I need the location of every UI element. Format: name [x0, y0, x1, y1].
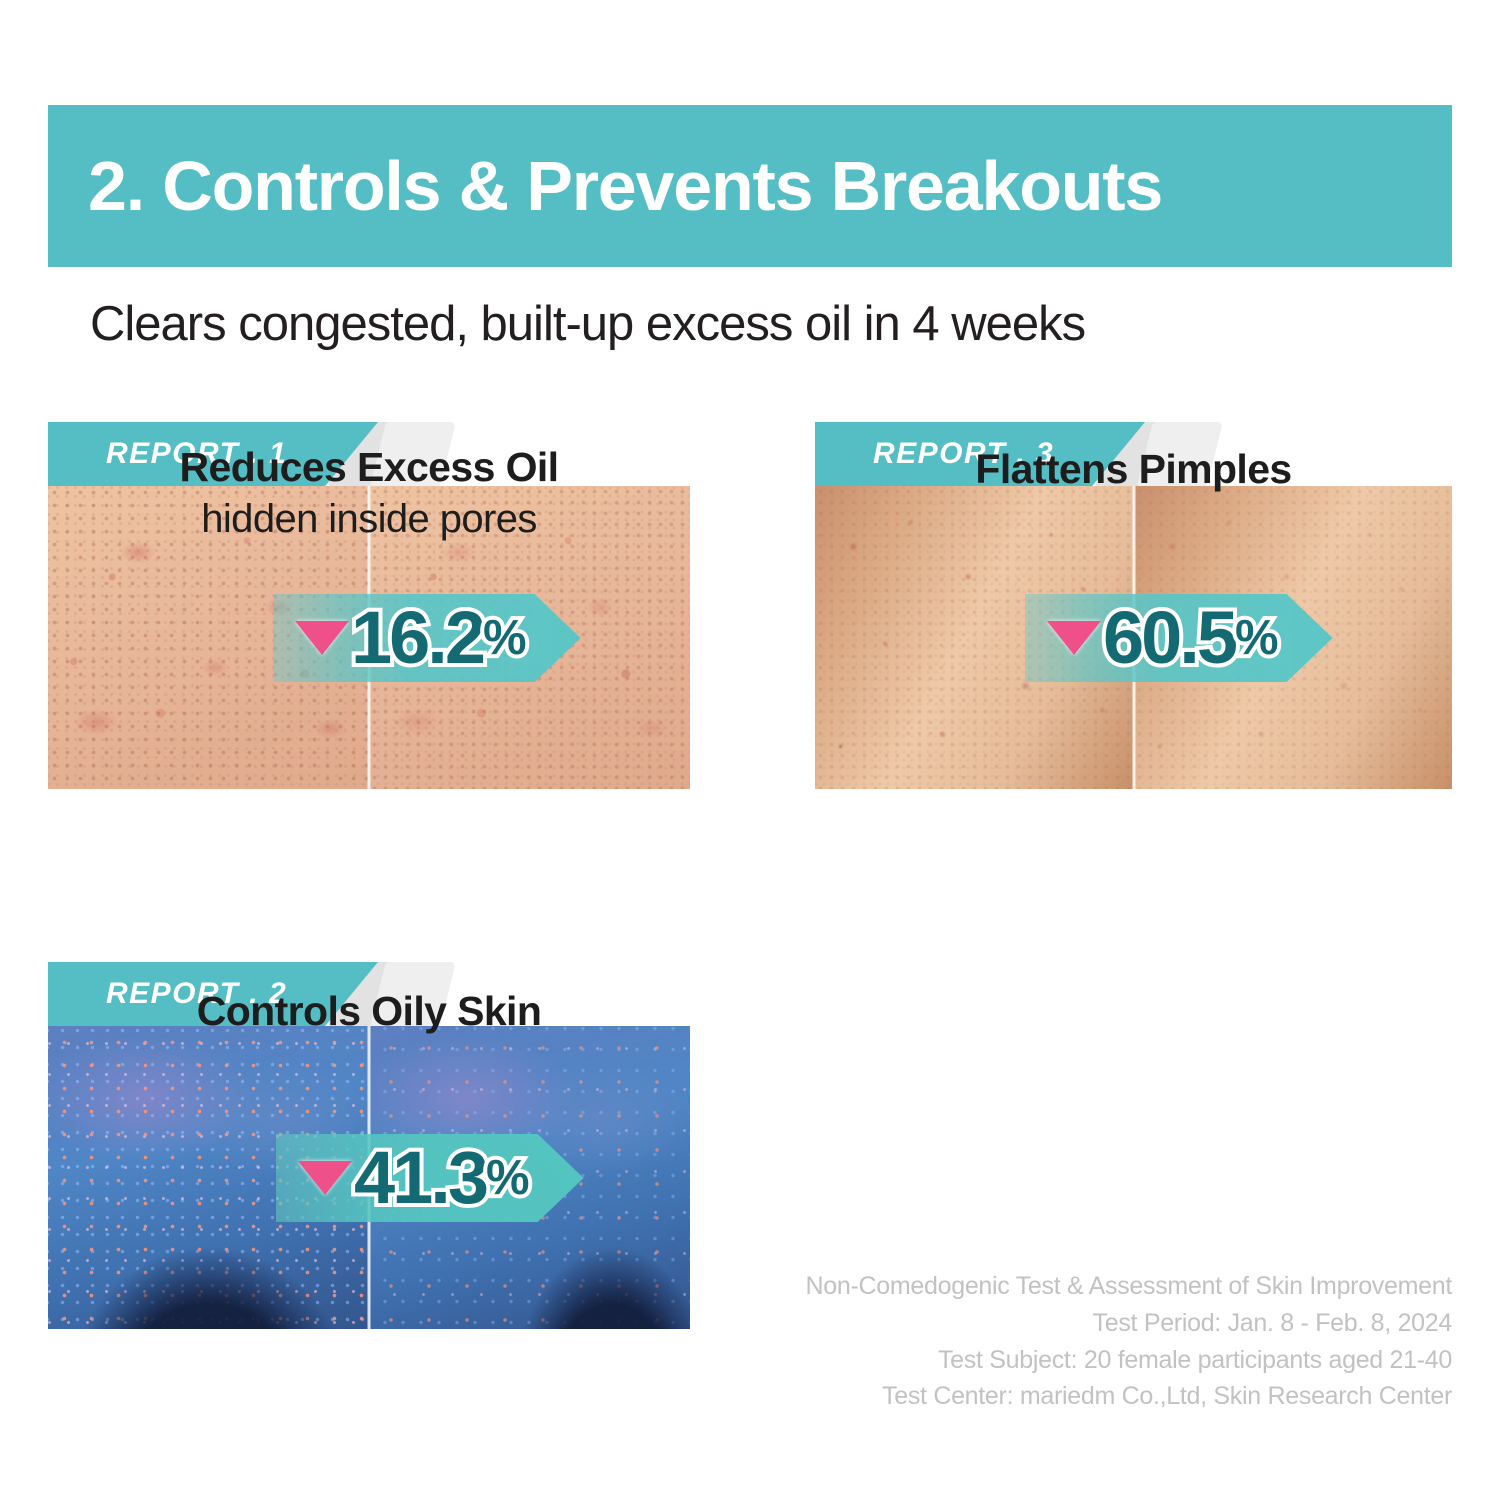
disclaimer-line-4: Test Center: mariedm Co.,Ltd, Skin Resea… [552, 1378, 1452, 1415]
caption-main: Reduces Excess Oil [48, 442, 690, 493]
badge-value: 41.3 [354, 1141, 486, 1215]
caption-main: Controls Oily Skin [48, 986, 690, 1037]
result-badge: 16.2 % [273, 594, 581, 682]
triangle-down-icon [295, 621, 349, 655]
badge-percent-symbol: % [1235, 614, 1277, 663]
disclaimer-line-1: Non-Comedogenic Test & Assessment of Ski… [552, 1268, 1452, 1305]
report-card-3: REPORT . 3 60.5 % Flattens Pimples [815, 422, 1452, 789]
caption-sub: hidden inside pores [48, 493, 690, 545]
triangle-down-icon [298, 1161, 352, 1195]
result-badge: 41.3 % [276, 1134, 584, 1222]
report-caption: Reduces Excess Oil hidden inside pores [48, 442, 690, 545]
badge-value: 60.5 [1103, 601, 1235, 675]
badge-value: 16.2 [351, 601, 483, 675]
badge-percent-symbol: % [486, 1154, 528, 1203]
uv-contour-shadow [48, 1205, 388, 1329]
caption-main: Flattens Pimples [815, 444, 1452, 495]
report-card-1: REPORT . 1 16.2 % Reduces Excess Oil hid… [48, 422, 690, 789]
before-after-photo: 60.5 % [815, 486, 1452, 789]
report-caption: Flattens Pimples [815, 444, 1452, 495]
disclaimer-line-2: Test Period: Jan. 8 - Feb. 8, 2024 [552, 1305, 1452, 1342]
test-disclaimer: Non-Comedogenic Test & Assessment of Ski… [552, 1268, 1452, 1415]
report-caption: Controls Oily Skin [48, 986, 690, 1037]
page-title: 2. Controls & Prevents Breakouts [88, 151, 1162, 221]
badge-percent-symbol: % [483, 614, 525, 663]
triangle-down-icon [1047, 621, 1101, 655]
result-badge: 60.5 % [1025, 594, 1333, 682]
header-banner: 2. Controls & Prevents Breakouts [48, 105, 1452, 267]
subtitle: Clears congested, built-up excess oil in… [90, 296, 1410, 352]
disclaimer-line-3: Test Subject: 20 female participants age… [552, 1342, 1452, 1379]
